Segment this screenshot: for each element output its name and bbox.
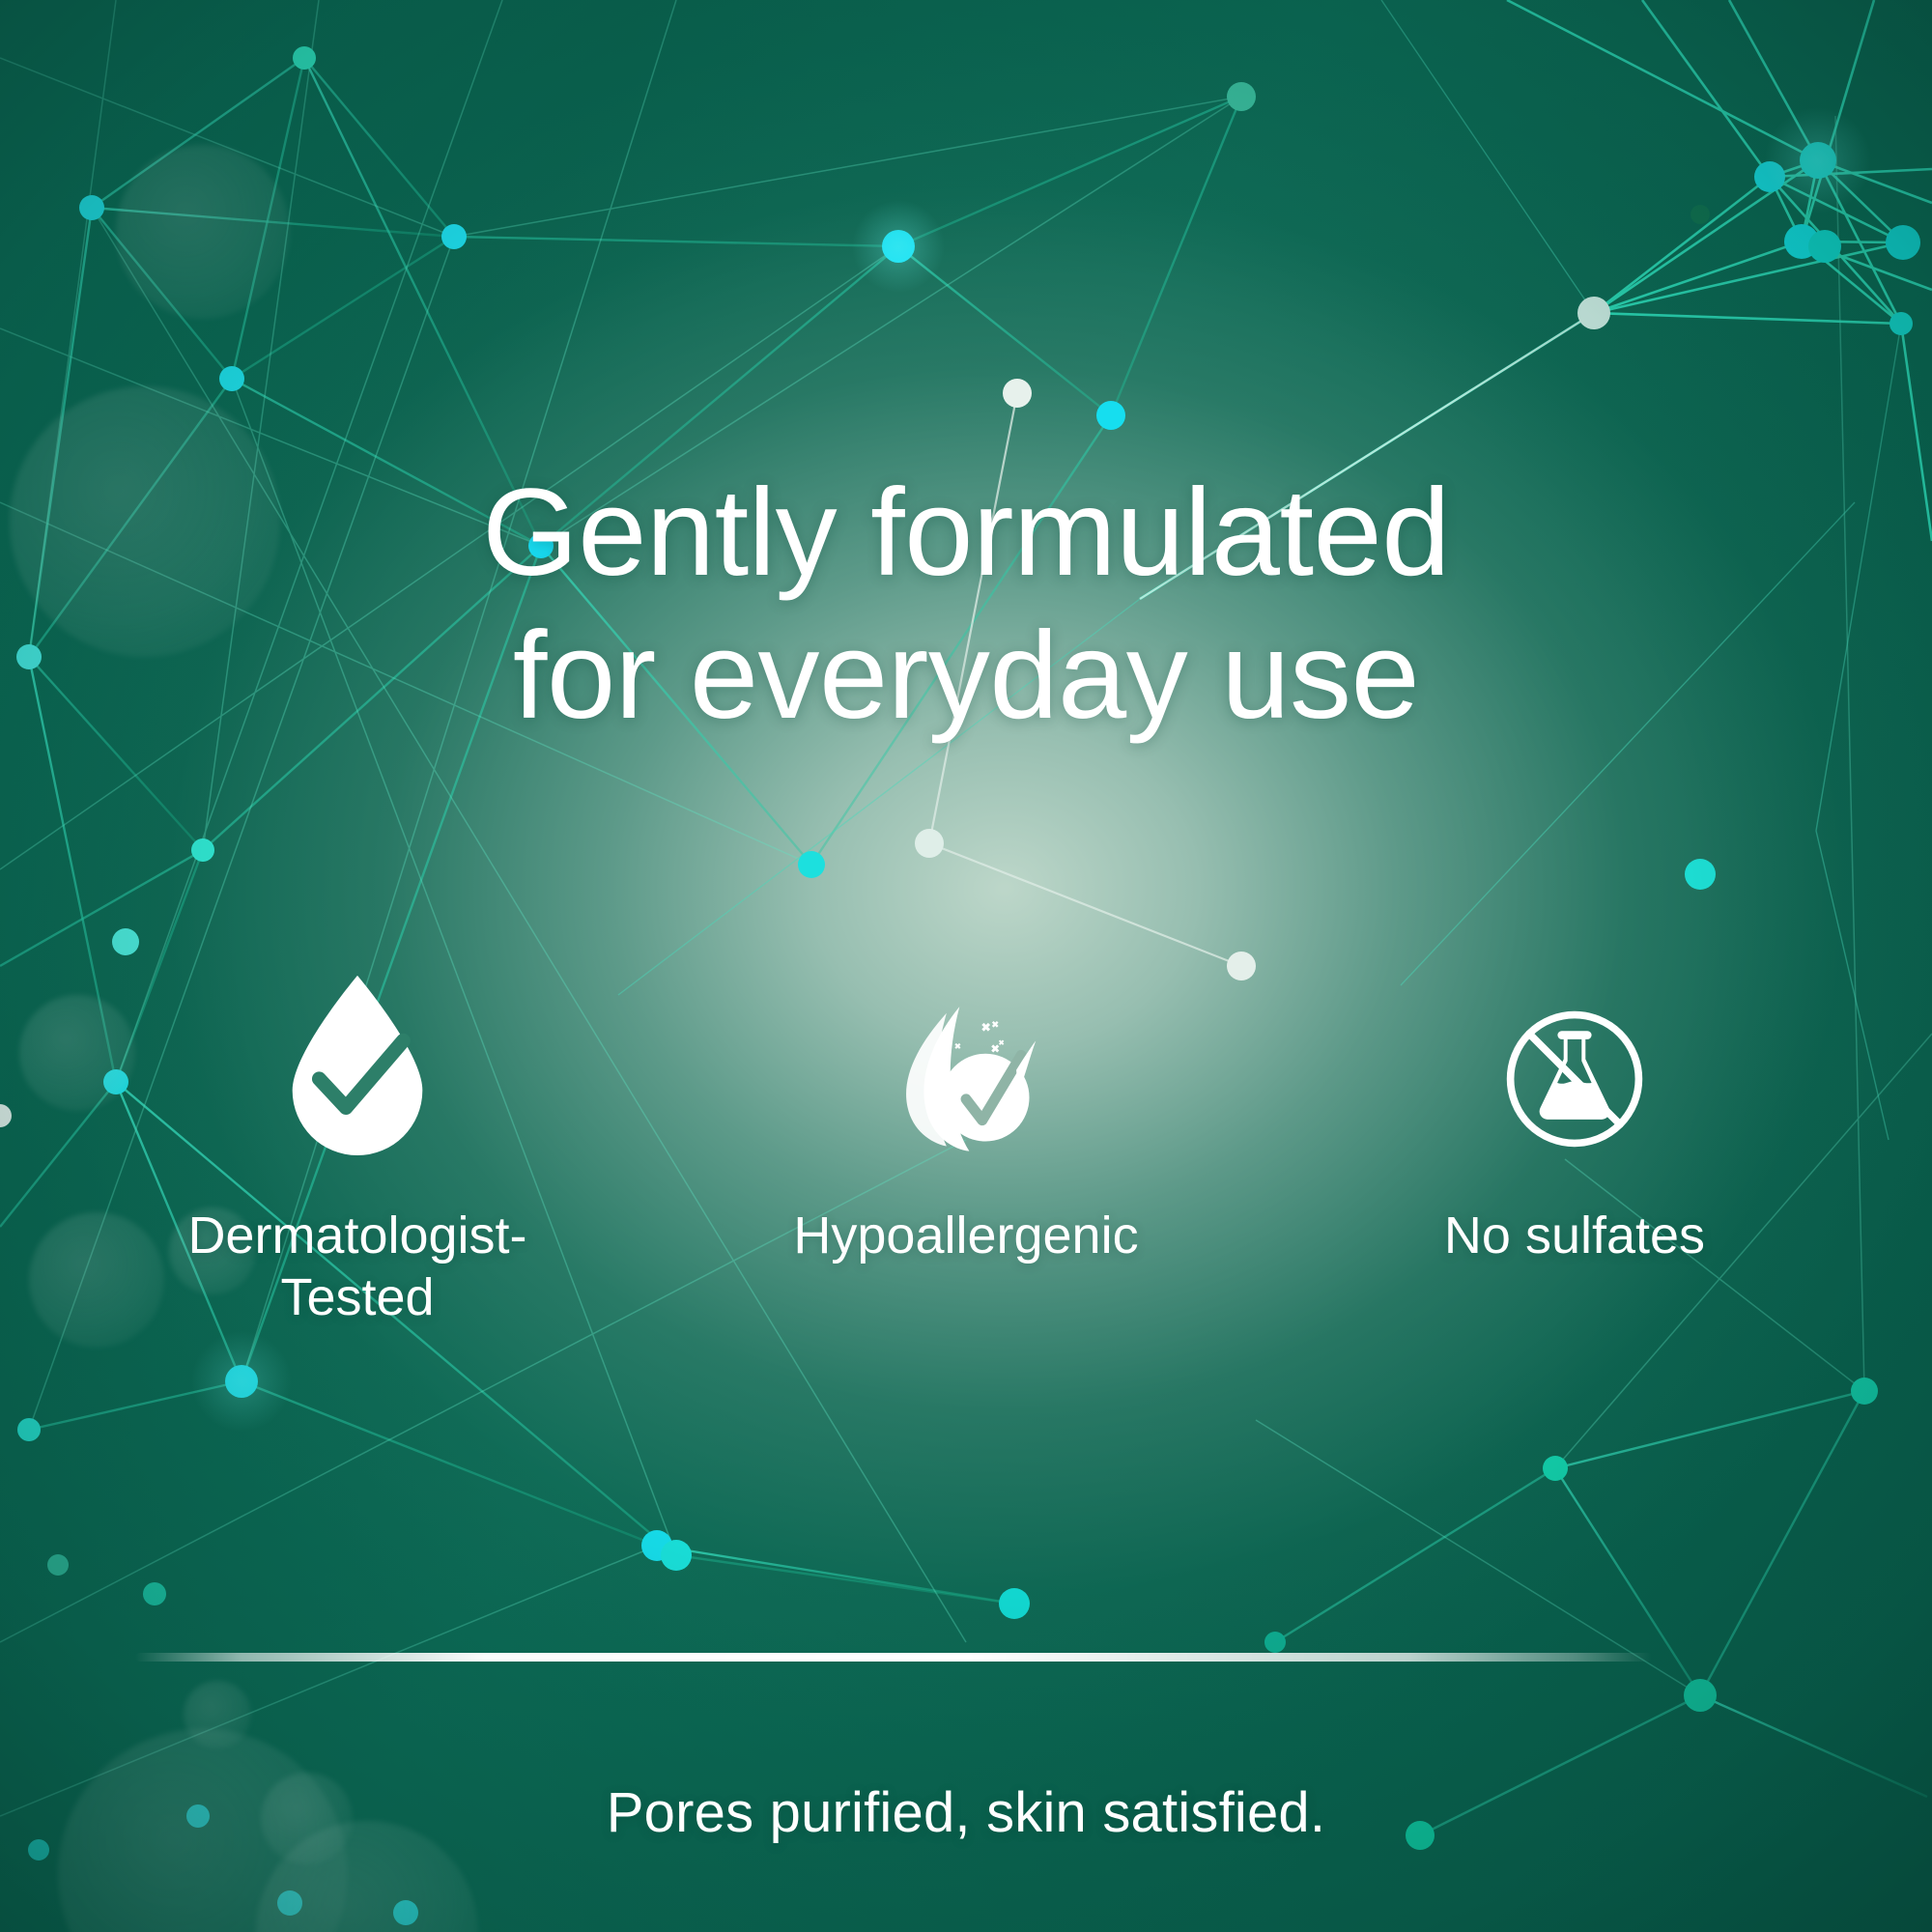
feature-item-dermatologist-tested: Dermatologist- Tested xyxy=(116,966,599,1328)
feature-label: Hypoallergenic xyxy=(793,1206,1138,1267)
section-divider xyxy=(135,1653,1652,1662)
feature-label: Dermatologist- Tested xyxy=(187,1206,526,1328)
leaf-sparkle-check-icon xyxy=(885,966,1047,1159)
page-title: Gently formulated for everyday use xyxy=(0,462,1932,749)
feature-label: No sulfates xyxy=(1444,1206,1705,1267)
no-flask-prohibition-icon xyxy=(1494,966,1655,1159)
water-drop-check-icon xyxy=(262,966,453,1159)
feature-item-hypoallergenic: Hypoallergenic xyxy=(724,966,1207,1267)
tagline: Pores purified, skin satisfied. xyxy=(0,1780,1932,1845)
promo-graphic: Gently formulated for everyday use Derma… xyxy=(0,0,1932,1932)
feature-list: Dermatologist- Tested xyxy=(116,966,1816,1328)
feature-item-no-sulfates: No sulfates xyxy=(1333,966,1816,1267)
